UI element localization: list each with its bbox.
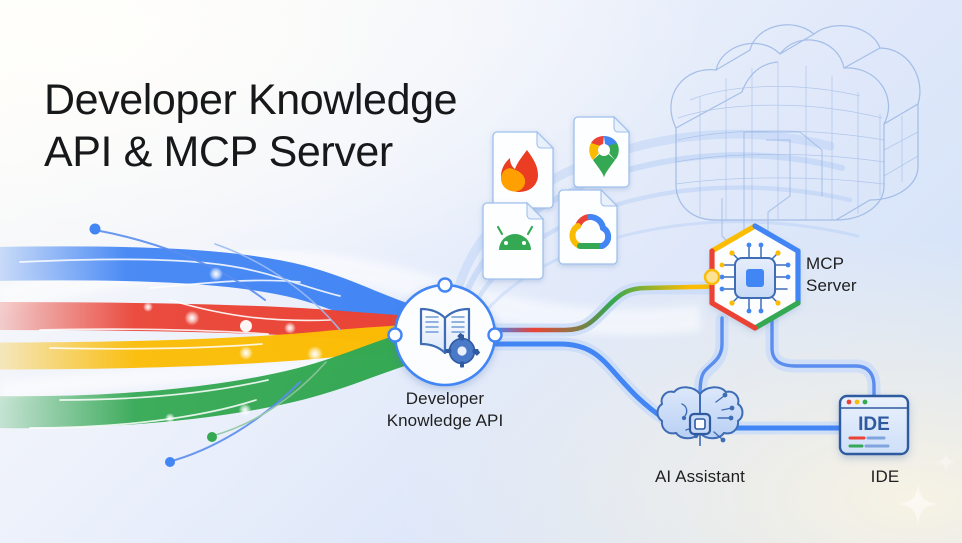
developer-knowledge-api-label: Developer Knowledge API [352, 388, 538, 432]
sparkle-icon [898, 484, 938, 524]
page-title: Developer Knowledge API & MCP Server [44, 74, 457, 179]
ide-label: IDE [822, 466, 948, 488]
illustration-canvas: IDE Developer Knowledge API & MCP Server… [0, 0, 962, 543]
mcp-server-label: MCP Server [806, 253, 946, 297]
ai-assistant-label: AI Assistant [622, 466, 778, 488]
